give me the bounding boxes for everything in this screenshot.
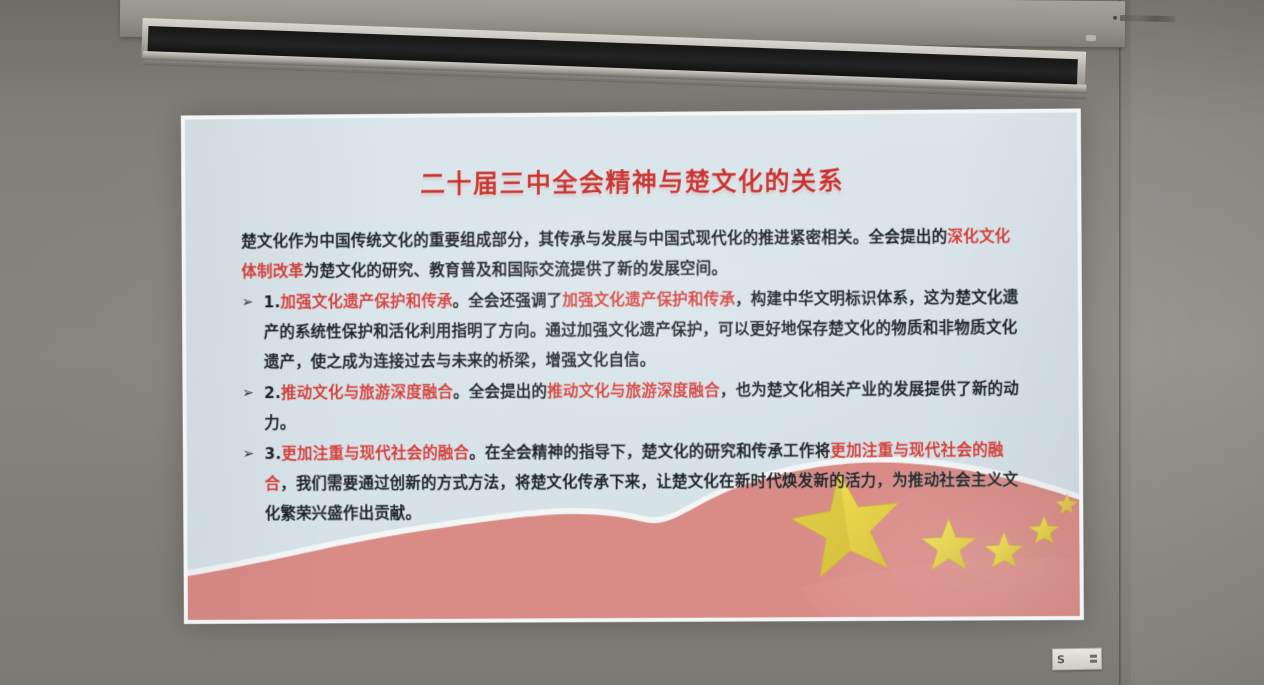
intro-paragraph: 楚文化作为中国传统文化的重要组成部分，其传承与发展与中国式现代化的推进紧密相关。… [241, 221, 1025, 286]
bullet-arrow-icon: ➢ [242, 439, 254, 469]
bullet-3-tail: ，我们需要通过创新的方式方法，将楚文化传承下来，让楚文化在新时代焕发新的活力，为… [265, 471, 1019, 523]
bullet-item-2: ➢2.推动文化与旅游深度融合。全会提出的推动文化与旅游深度融合，也为楚文化相关产… [242, 374, 1026, 439]
casing-end-cap [1086, 35, 1096, 41]
bullet-arrow-icon: ➢ [242, 378, 254, 408]
intro-lead: 楚文化作为中国传统文化的重要组成部分，其传承与发展与中国式现代化的推进紧密相关。… [241, 228, 947, 251]
bullet-2-mid: 。全会提出的 [453, 383, 547, 402]
slide-title: 二十届三中全会精神与楚文化的关系 [241, 165, 1025, 201]
bullet-arrow-icon: ➢ [242, 288, 254, 318]
bullet-2-highlight: 推动文化与旅游深度融合 [547, 381, 720, 400]
slide-canvas: 二十届三中全会精神与楚文化的关系 楚文化作为中国传统文化的重要组成部分，其传承与… [185, 113, 1080, 620]
bullet-1-number: 1. [263, 293, 280, 311]
bullet-3-mid: 。在全会精神的指导下，楚文化的研究和传承工作将 [469, 442, 830, 462]
slide-white-border: 二十届三中全会精神与楚文化的关系 楚文化作为中国传统文化的重要组成部分，其传承与… [181, 108, 1084, 623]
bullet-item-3: ➢3.更加注重与现代社会的融合。在全会精神的指导下，楚文化的研究和传承工作将更加… [242, 435, 1027, 529]
brand-dot-icon [1113, 16, 1117, 20]
wall-seam-line [1119, 0, 1122, 685]
bullet-2-heading: 推动文化与旅游深度融合 [281, 383, 453, 402]
brand-wordmark [1120, 15, 1175, 22]
wall-right-panel [1131, 0, 1264, 685]
bullet-3-heading: 更加注重与现代社会的融合 [281, 444, 469, 463]
plate-bars-icon [1090, 655, 1097, 663]
bullet-1-heading: 加强文化遗产保护和传承 [280, 292, 452, 311]
bullet-3-number: 3. [264, 445, 281, 463]
classroom-photo-scene: 二十届三中全会精神与楚文化的关系 楚文化作为中国传统文化的重要组成部分，其传承与… [0, 0, 1264, 685]
intro-tail: 为楚文化的研究、教育普及和国际交流提供了新的发展空间。 [304, 259, 727, 280]
slide-text-body: 二十届三中全会精神与楚文化的关系 楚文化作为中国传统文化的重要组成部分，其传承与… [185, 113, 1079, 530]
bullet-1-mid: 。全会还强调了 [453, 291, 563, 310]
wall-label-plate: S [1052, 648, 1102, 671]
projected-slide: 二十届三中全会精神与楚文化的关系 楚文化作为中国传统文化的重要组成部分，其传承与… [181, 108, 1084, 623]
plate-glyph: S [1057, 654, 1065, 665]
bullet-2-number: 2. [264, 384, 281, 402]
bullet-1-highlight: 加强文化遗产保护和传承 [562, 290, 735, 309]
casing-brand-logo [1113, 13, 1175, 24]
bullet-item-1: ➢1.加强文化遗产保护和传承。全会还强调了加强文化遗产保护和传承，构建中华文明标… [242, 282, 1027, 377]
